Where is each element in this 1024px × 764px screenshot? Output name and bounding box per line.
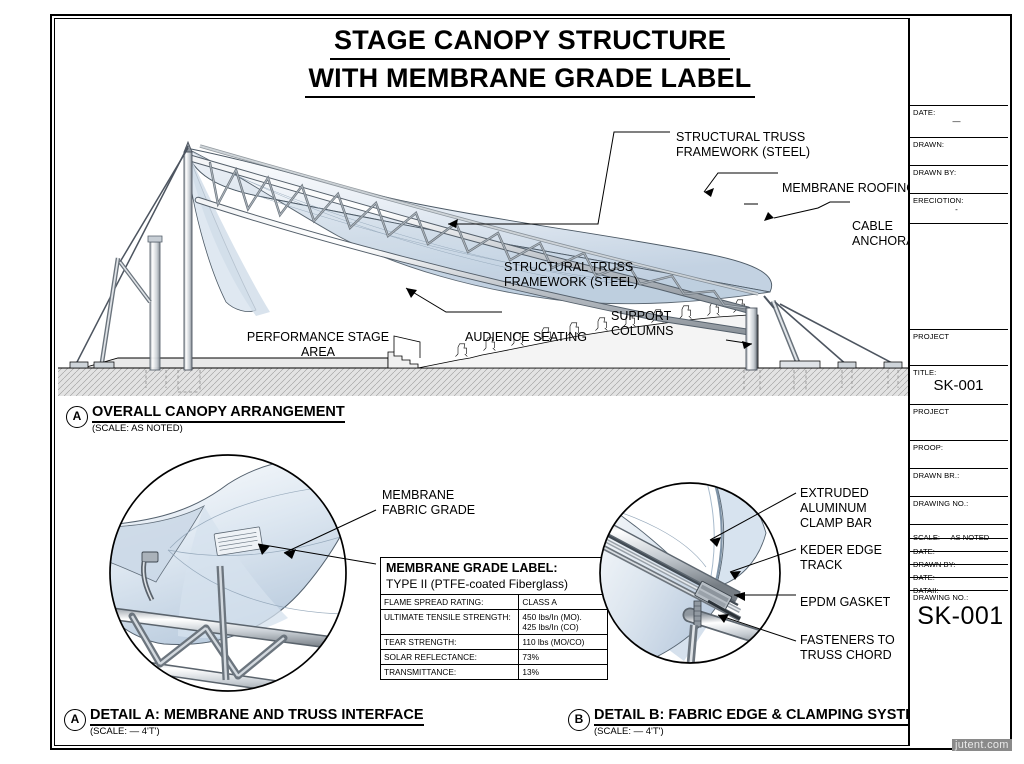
tb-row-proop: PROOP:: [910, 441, 1008, 469]
spec-key: TEAR STRENGTH:: [381, 634, 519, 649]
tb-value: -: [913, 205, 1008, 214]
tb-value-title: SK-001: [913, 377, 1008, 394]
tb-row-date-3: DATE:: [910, 565, 1008, 578]
title-line-1: STAGE CANOPY STRUCTURE: [330, 24, 730, 60]
spec-header-line-2: TYPE II (PTFE-coated Fiberglass): [386, 577, 603, 592]
drawing-sheet: STAGE CANOPY STRUCTURE WITH MEMBRANE GRA…: [0, 0, 1024, 764]
tb-value: —: [913, 117, 1008, 126]
callout-structural-truss-framework-upper: STRUCTURAL TRUSS FRAMEWORK (STEEL): [676, 130, 810, 160]
callout-keder-edge-track: KEDER EDGE TRACK: [800, 543, 882, 573]
section-scale-detail-b: (SCALE: — 4'T'): [594, 726, 664, 737]
section-name-detail-a: DETAIL A: MEMBRANE AND TRUSS INTERFACE: [90, 707, 424, 726]
detail-b-drawing: [598, 455, 798, 700]
section-scale-overall: (SCALE: AS NOTED): [92, 423, 183, 434]
spec-table-header: MEMBRANE GRADE LABEL: TYPE II (PTFE-coat…: [381, 558, 607, 595]
table-row: TEAR STRENGTH: 110 lbs (MO/CO): [381, 634, 607, 649]
tb-key: DRAWN BY:: [913, 168, 1008, 177]
tb-key: PROJECT: [913, 332, 1008, 341]
spec-value: 13%: [519, 665, 607, 680]
section-bubble-b: B: [568, 709, 590, 731]
callout-support-columns: SUPPORT COLUMNS: [611, 309, 674, 339]
tb-row-drawn-by-2: DRAWN BY:: [910, 552, 1008, 565]
callout-extruded-aluminum-clamp-bar: EXTRUDED ALUMINUM CLAMP BAR: [800, 486, 872, 530]
tb-row-title-sk: TITLE: SK-001: [910, 366, 1008, 405]
spec-rows: FLAME SPREAD RATING: CLASS A ULTIMATE TE…: [381, 595, 607, 680]
watermark: jutent.com: [952, 739, 1012, 751]
table-row: SOLAR REFLECTANCE: 73%: [381, 650, 607, 665]
table-row: TRANSMITTANCE: 13%: [381, 665, 607, 680]
spec-value: 73%: [519, 650, 607, 665]
tb-key: DRAWN BR.:: [913, 471, 1008, 480]
spec-value: 450 lbs/In (MO). 425 lbs/In (CO): [519, 609, 607, 634]
spec-key: ULTIMATE TENSILE STRENGTH:: [381, 609, 519, 634]
label-performance-stage-area: PERFORMANCE STAGE AREA: [236, 330, 400, 360]
tb-row-project-2: PROJECT: [910, 405, 1008, 441]
detail-b-svg: [598, 455, 798, 700]
section-name-overall: OVERALL CANOPY ARRANGEMENT: [92, 404, 345, 423]
tb-row-drawn-br: DRAWN BR.:: [910, 469, 1008, 497]
table-row: ULTIMATE TENSILE STRENGTH: 450 lbs/In (M…: [381, 609, 607, 634]
tb-row-blank-large: [910, 224, 1008, 330]
tb-row-ereciotion: ERECIOTION: -: [910, 194, 1008, 224]
section-bubble-a: A: [64, 709, 86, 731]
tb-key: PROOP:: [913, 443, 1008, 452]
tb-key: TITLE:: [913, 368, 1008, 377]
spec-key: TRANSMITTANCE:: [381, 665, 519, 680]
tb-key: DRAWN:: [913, 140, 1008, 149]
detail-a-svg: [108, 448, 378, 703]
tb-row-drawing-no-1: DRAWING NO.:: [910, 497, 1008, 525]
tb-key: DRAWING NO.:: [913, 593, 1008, 602]
tb-key: ERECIOTION:: [913, 196, 1008, 205]
tb-row-dataii: DATAII:: [910, 578, 1008, 591]
callout-membrane-fabric-grade: MEMBRANE FABRIC GRADE: [382, 488, 475, 518]
callout-fasteners-to-truss-chord: FASTENERS TO TRUSS CHORD: [800, 633, 895, 663]
tb-row-date-2: DATE:: [910, 539, 1008, 552]
spec-key: SOLAR REFLECTANCE:: [381, 650, 519, 665]
spec-value: 110 lbs (MO/CO): [519, 634, 607, 649]
tb-key: DATE:: [913, 108, 1008, 117]
callout-epdm-gasket: EPDM GASKET: [800, 595, 890, 610]
tb-row-drawn-top: DRAWN:: [910, 138, 1008, 166]
section-bubble-a: A: [66, 406, 88, 428]
tb-row-drawing-no-2: DRAWING NO.: SK-001: [910, 591, 1008, 637]
table-row: FLAME SPREAD RATING: CLASS A: [381, 595, 607, 610]
tb-row-scale: SCALE: AS NOTED: [910, 525, 1008, 539]
spec-value: CLASS A: [519, 595, 607, 610]
tb-value-drawing-no: SK-001: [913, 602, 1008, 631]
tb-row-drawn-by-top: DRAWN BY:: [910, 166, 1008, 194]
tb-key: PROJECT: [913, 407, 1008, 416]
title-line-2: WITH MEMBRANE GRADE LABEL: [305, 62, 756, 98]
callout-structural-truss-framework-lower: STRUCTURAL TRUSS FRAMEWORK (STEEL): [504, 260, 638, 290]
section-scale-detail-a: (SCALE: — 4'T'): [90, 726, 160, 737]
membrane-grade-label-table: MEMBRANE GRADE LABEL: TYPE II (PTFE-coat…: [380, 557, 608, 680]
tb-row-date-top: DATE: —: [910, 106, 1008, 138]
tb-key: DRAWING NO.:: [913, 499, 1008, 508]
spec-key: FLAME SPREAD RATING:: [381, 595, 519, 610]
tb-logo-area: [910, 18, 1008, 106]
spec-header-line-1: MEMBRANE GRADE LABEL:: [386, 561, 603, 577]
label-audience-seating: AUDIENCE SEATING: [465, 330, 587, 345]
tb-row-project-1: PROJECT: [910, 330, 1008, 366]
detail-a-drawing: [108, 448, 378, 703]
title-block-panel: DATE: — DRAWN: DRAWN BY: ERECIOTION: - P…: [908, 18, 1008, 746]
section-name-detail-b: DETAIL B: FABRIC EDGE & CLAMPING SYSTEM: [594, 707, 927, 726]
sheet-title: STAGE CANOPY STRUCTURE WITH MEMBRANE GRA…: [250, 24, 810, 98]
